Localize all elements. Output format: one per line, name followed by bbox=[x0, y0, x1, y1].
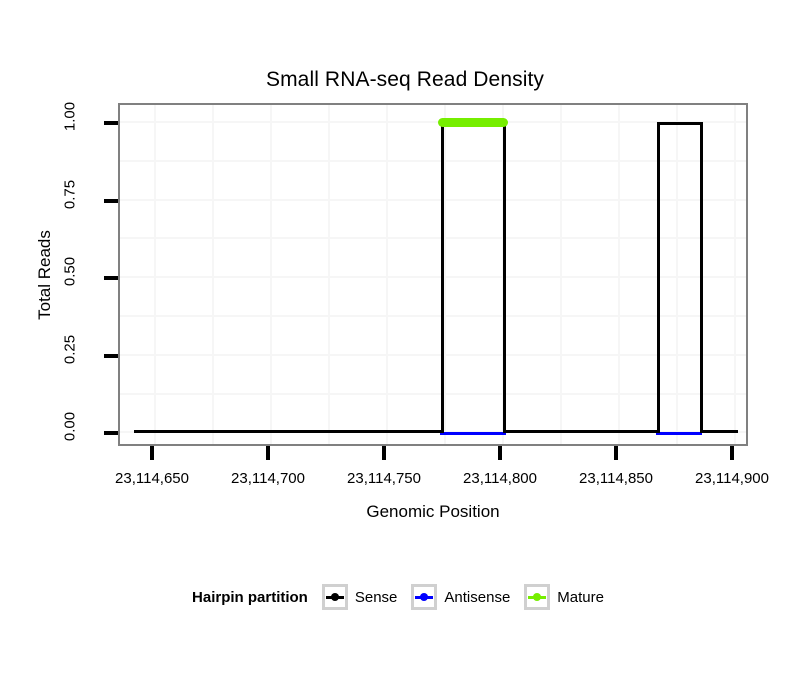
legend-label-mature: Mature bbox=[557, 589, 604, 606]
x-tick-label-750: 23,114,750 bbox=[319, 470, 449, 487]
y-axis-title: Total Reads bbox=[34, 175, 56, 375]
line-dot-icon bbox=[411, 584, 437, 610]
legend-title: Hairpin partition bbox=[192, 589, 308, 606]
y-tick-mark-000 bbox=[104, 431, 118, 435]
x-axis-title: Genomic Position bbox=[118, 502, 748, 522]
y-axis-title-text: Total Reads bbox=[35, 230, 55, 320]
x-tick-mark-900 bbox=[730, 446, 734, 460]
x-tick-label-850: 23,114,850 bbox=[551, 470, 681, 487]
x-tick-mark-850 bbox=[614, 446, 618, 460]
legend-key-dot-antisense bbox=[420, 593, 428, 601]
y-tick-mark-100 bbox=[104, 121, 118, 125]
x-tick-label-900: 23,114,900 bbox=[667, 470, 797, 487]
x-tick-label-800: 23,114,800 bbox=[435, 470, 565, 487]
legend: Hairpin partition Sense Antisense Mature bbox=[0, 584, 810, 610]
x-tick-mark-800 bbox=[498, 446, 502, 460]
y-tick-mark-025 bbox=[104, 354, 118, 358]
y-tick-mark-075 bbox=[104, 199, 118, 203]
x-tick-mark-650 bbox=[150, 446, 154, 460]
mature-segment-1 bbox=[438, 118, 508, 127]
legend-item-mature[interactable]: Mature bbox=[524, 584, 604, 610]
chart-title: Small RNA-seq Read Density bbox=[0, 68, 810, 92]
y-tick-label-100: 1.00 bbox=[62, 87, 79, 147]
plot-area bbox=[120, 105, 746, 444]
chart-figure: Small RNA-seq Read Density Total Reads 1… bbox=[0, 0, 810, 690]
legend-item-antisense[interactable]: Antisense bbox=[411, 584, 510, 610]
y-tick-label-050: 0.50 bbox=[62, 242, 79, 302]
plot-panel bbox=[118, 103, 748, 446]
legend-label-antisense: Antisense bbox=[444, 589, 510, 606]
series-mature bbox=[120, 105, 746, 444]
x-tick-mark-700 bbox=[266, 446, 270, 460]
x-tick-mark-750 bbox=[382, 446, 386, 460]
y-tick-mark-050 bbox=[104, 276, 118, 280]
x-tick-label-700: 23,114,700 bbox=[203, 470, 333, 487]
legend-key-dot-mature bbox=[533, 593, 541, 601]
x-tick-label-650: 23,114,650 bbox=[87, 470, 217, 487]
y-tick-label-025: 0.25 bbox=[62, 320, 79, 380]
line-dot-icon bbox=[524, 584, 550, 610]
legend-item-sense[interactable]: Sense bbox=[322, 584, 398, 610]
y-tick-label-075: 0.75 bbox=[62, 165, 79, 225]
legend-label-sense: Sense bbox=[355, 589, 398, 606]
y-tick-label-000: 0.00 bbox=[62, 397, 79, 457]
line-dot-icon bbox=[322, 584, 348, 610]
legend-key-dot-sense bbox=[331, 593, 339, 601]
